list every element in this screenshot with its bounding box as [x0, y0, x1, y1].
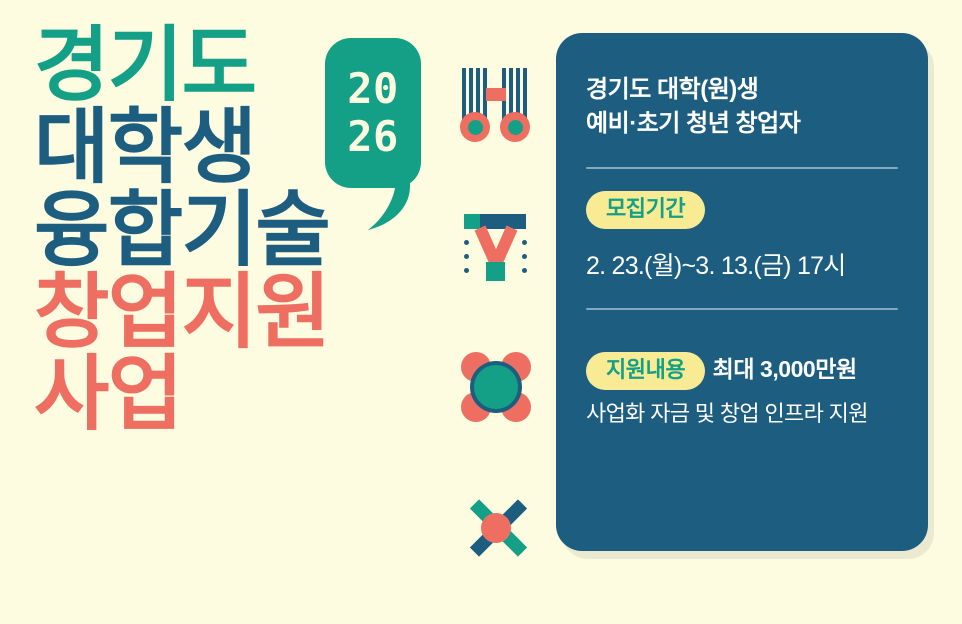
poster-canvas: 경기도 대학생 융합기술 창업지원 사업 20 26 — [0, 0, 962, 624]
headline-line-2-text: 대학생 — [34, 108, 255, 188]
decorative-icon-column — [448, 60, 544, 580]
funnel-base-square — [486, 262, 505, 281]
badge-support-details: 지원내용 — [586, 352, 705, 390]
cross-center-dot — [481, 513, 511, 543]
headline-line-3-text: 융합기술 — [34, 191, 329, 271]
support-description: 사업화 자금 및 창업 인프라 지원 — [586, 396, 898, 428]
card-divider-1 — [586, 167, 898, 169]
year-badge-line-1: 20 — [347, 68, 398, 110]
speech-bubble-tail-icon — [352, 168, 410, 230]
funnel-medal-icon — [448, 200, 544, 296]
year-badge-numbers: 20 26 — [325, 38, 421, 188]
headline-line-5: 사업 — [34, 355, 444, 435]
target-audience-text: 경기도 대학(원)생 예비·초기 청년 창업자 — [586, 73, 898, 141]
cross-node-icon — [448, 480, 544, 576]
molecule-cluster-icon — [448, 340, 544, 436]
support-amount-value: 최대 3,000만원 — [713, 356, 857, 382]
year-speech-bubble: 20 26 — [325, 38, 421, 188]
info-card: 경기도 대학(원)생 예비·초기 청년 창업자 모집기간 2. 23.(월)~3… — [556, 33, 928, 551]
support-amount-highlight: 최대 3,000만원 — [710, 350, 860, 386]
card-divider-2 — [586, 308, 898, 310]
barcode-wheels-icon — [448, 60, 544, 156]
barcode-wheel-left — [460, 112, 490, 142]
info-card-content: 경기도 대학(원)생 예비·초기 청년 창업자 모집기간 2. 23.(월)~3… — [556, 33, 928, 458]
headline-line-5-text: 사업 — [34, 355, 182, 435]
funnel-dots-right — [522, 240, 527, 282]
funnel-top-bar — [464, 214, 526, 229]
headline-line-4: 창업지원 — [34, 273, 444, 353]
headline-line-4-text: 창업지원 — [34, 273, 329, 353]
headline-line-1-text: 경기도 — [34, 26, 255, 106]
year-badge-line-2: 26 — [347, 116, 398, 158]
funnel-dots-left — [464, 240, 469, 282]
barcode-wheel-right — [500, 112, 530, 142]
badge-recruitment-period: 모집기간 — [586, 191, 705, 229]
cluster-core — [474, 365, 518, 409]
recruitment-period-value: 2. 23.(월)~3. 13.(금) 17시 — [586, 246, 898, 282]
barcode-bridge — [486, 88, 506, 101]
